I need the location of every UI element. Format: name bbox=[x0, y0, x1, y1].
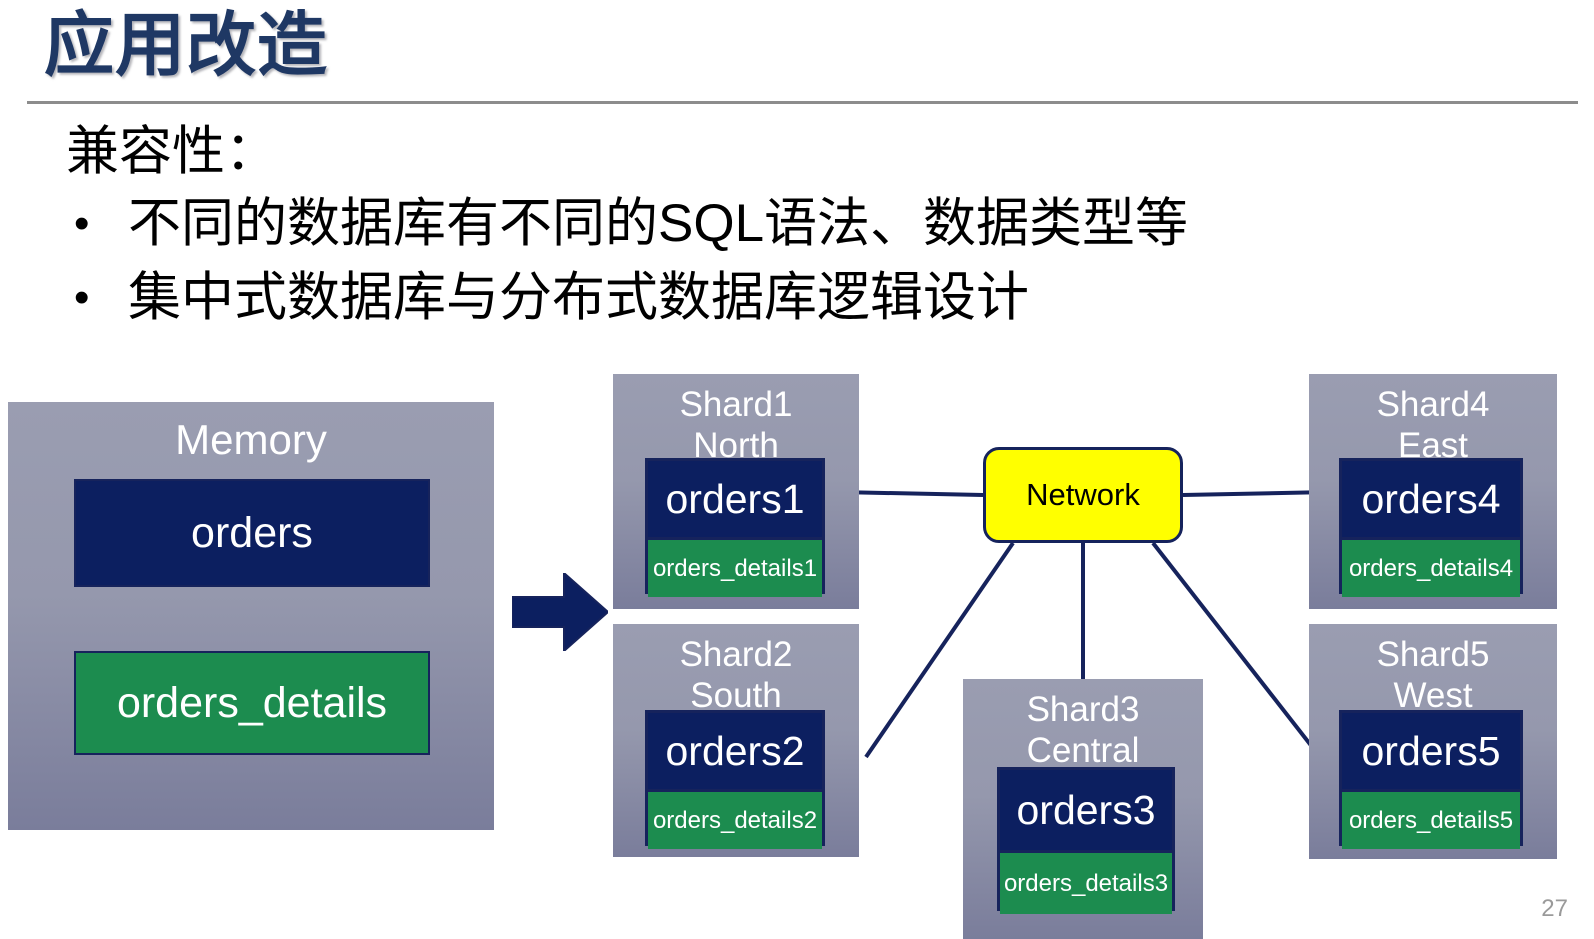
shard1-title-text: Shard1 bbox=[680, 385, 793, 424]
shard-panel-shard2: Shard2 South orders2 orders_details2 bbox=[613, 624, 859, 857]
shard5-sub-table: orders_details5 bbox=[1342, 789, 1520, 849]
memory-table-orders: orders bbox=[74, 479, 430, 587]
shard1-sub-table: orders_details1 bbox=[648, 537, 822, 597]
shard2-tables: orders2 orders_details2 bbox=[645, 710, 825, 846]
shard4-title-text: Shard4 bbox=[1377, 385, 1490, 424]
shard2-sub-table: orders_details2 bbox=[648, 789, 822, 849]
page-number: 27 bbox=[1541, 895, 1568, 923]
shard1-main-table: orders1 bbox=[648, 461, 822, 537]
shard3-main-table: orders3 bbox=[1000, 770, 1172, 850]
shard4-title: Shard4 East bbox=[1309, 374, 1557, 466]
network-node: Network bbox=[983, 447, 1183, 543]
shard1-title: Shard1 North bbox=[613, 374, 859, 466]
shard-panel-shard3: Shard3 Central orders3 orders_details3 bbox=[963, 679, 1203, 939]
shard5-tables: orders5 orders_details5 bbox=[1339, 710, 1523, 846]
shard2-main-table: orders2 bbox=[648, 713, 822, 789]
architecture-diagram: Memory orders orders_details Shard1 Nort… bbox=[0, 0, 1594, 939]
shard3-sub-table: orders_details3 bbox=[1000, 850, 1172, 914]
shard3-title: Shard3 Central bbox=[963, 679, 1203, 771]
shard4-sub-table: orders_details4 bbox=[1342, 537, 1520, 597]
shard3-title-text: Shard3 bbox=[1027, 690, 1140, 729]
shard3-region-text: Central bbox=[963, 730, 1203, 771]
memory-table-orders-details: orders_details bbox=[74, 651, 430, 755]
shard-panel-shard5: Shard5 West orders5 orders_details5 bbox=[1309, 624, 1557, 859]
shard4-tables: orders4 orders_details4 bbox=[1339, 458, 1523, 594]
connector-network-shard1 bbox=[838, 492, 983, 495]
shard-panel-shard1: Shard1 North orders1 orders_details1 bbox=[613, 374, 859, 609]
connector-network-shard4 bbox=[1183, 492, 1330, 495]
shard2-title-text: Shard2 bbox=[680, 635, 793, 674]
shard3-tables: orders3 orders_details3 bbox=[997, 767, 1175, 911]
shard4-main-table: orders4 bbox=[1342, 461, 1520, 537]
memory-panel-title: Memory bbox=[8, 402, 494, 464]
shard1-tables: orders1 orders_details1 bbox=[645, 458, 825, 594]
shard5-title-text: Shard5 bbox=[1377, 635, 1490, 674]
shard5-title: Shard5 West bbox=[1309, 624, 1557, 716]
memory-panel: Memory orders orders_details bbox=[8, 402, 494, 830]
transform-arrow-icon bbox=[512, 573, 608, 651]
shard-panel-shard4: Shard4 East orders4 orders_details4 bbox=[1309, 374, 1557, 609]
shard2-title: Shard2 South bbox=[613, 624, 859, 716]
shard5-main-table: orders5 bbox=[1342, 713, 1520, 789]
